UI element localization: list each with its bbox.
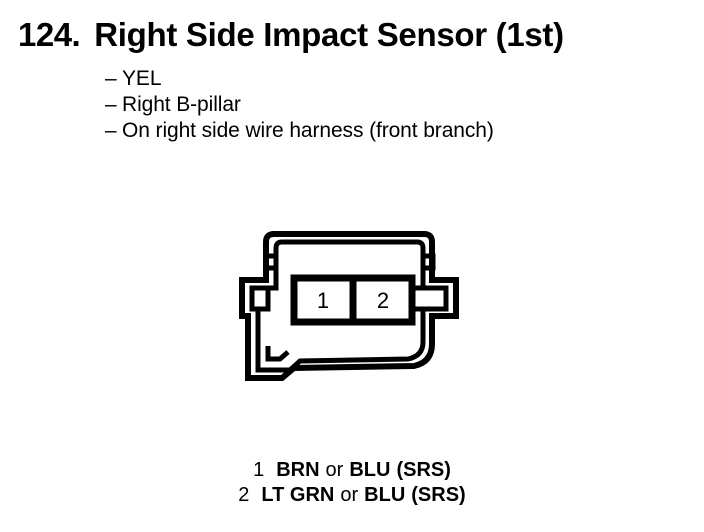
connector-diagram-page: 124. Right Side Impact Sensor (1st) – YE… bbox=[0, 0, 704, 532]
legend-conjunction: or bbox=[340, 484, 358, 506]
pin-legend: 1BRNorBLU(SRS) 2LT GRNorBLU(SRS) bbox=[0, 458, 704, 508]
legend-system: (SRS) bbox=[396, 459, 450, 481]
legend-row-pin-1: 1BRNorBLU(SRS) bbox=[0, 458, 704, 483]
legend-primary-color: BRN bbox=[276, 459, 319, 481]
dash-bullet-icon: – bbox=[105, 92, 122, 118]
page-title: 124. Right Side Impact Sensor (1st) bbox=[18, 16, 564, 54]
item-number: 124. bbox=[18, 16, 80, 54]
legend-pin-number: 2 bbox=[238, 484, 249, 506]
cavity-number-2: 2 bbox=[377, 288, 389, 313]
spec-list: – YEL – Right B-pillar – On right side w… bbox=[105, 66, 665, 144]
legend-conjunction: or bbox=[326, 459, 344, 481]
spec-label: YEL bbox=[122, 66, 161, 92]
legend-pin-number: 1 bbox=[253, 459, 264, 481]
legend-secondary-color: BLU bbox=[364, 484, 405, 506]
title-text: Right Side Impact Sensor (1st) bbox=[94, 16, 564, 54]
legend-secondary-color: BLU bbox=[349, 459, 390, 481]
dash-bullet-icon: – bbox=[105, 66, 122, 92]
spec-item-location: – Right B-pillar bbox=[105, 92, 665, 118]
bottom-left-step-notch bbox=[268, 346, 288, 359]
legend-primary-color: LT GRN bbox=[261, 484, 334, 506]
cavity-number-1: 1 bbox=[317, 288, 329, 313]
spec-label: On right side wire harness (front branch… bbox=[122, 118, 494, 144]
legend-system: (SRS) bbox=[411, 484, 465, 506]
spec-label: Right B-pillar bbox=[122, 92, 241, 118]
left-locking-tab bbox=[258, 288, 268, 309]
spec-item-wire-color: – YEL bbox=[105, 66, 665, 92]
dash-bullet-icon: – bbox=[105, 118, 122, 144]
spec-item-harness: – On right side wire harness (front bran… bbox=[105, 118, 665, 144]
connector-figure: 1 2 bbox=[222, 216, 482, 396]
legend-row-pin-2: 2LT GRNorBLU(SRS) bbox=[0, 483, 704, 508]
connector-outline-drawing: 1 2 bbox=[222, 216, 482, 396]
